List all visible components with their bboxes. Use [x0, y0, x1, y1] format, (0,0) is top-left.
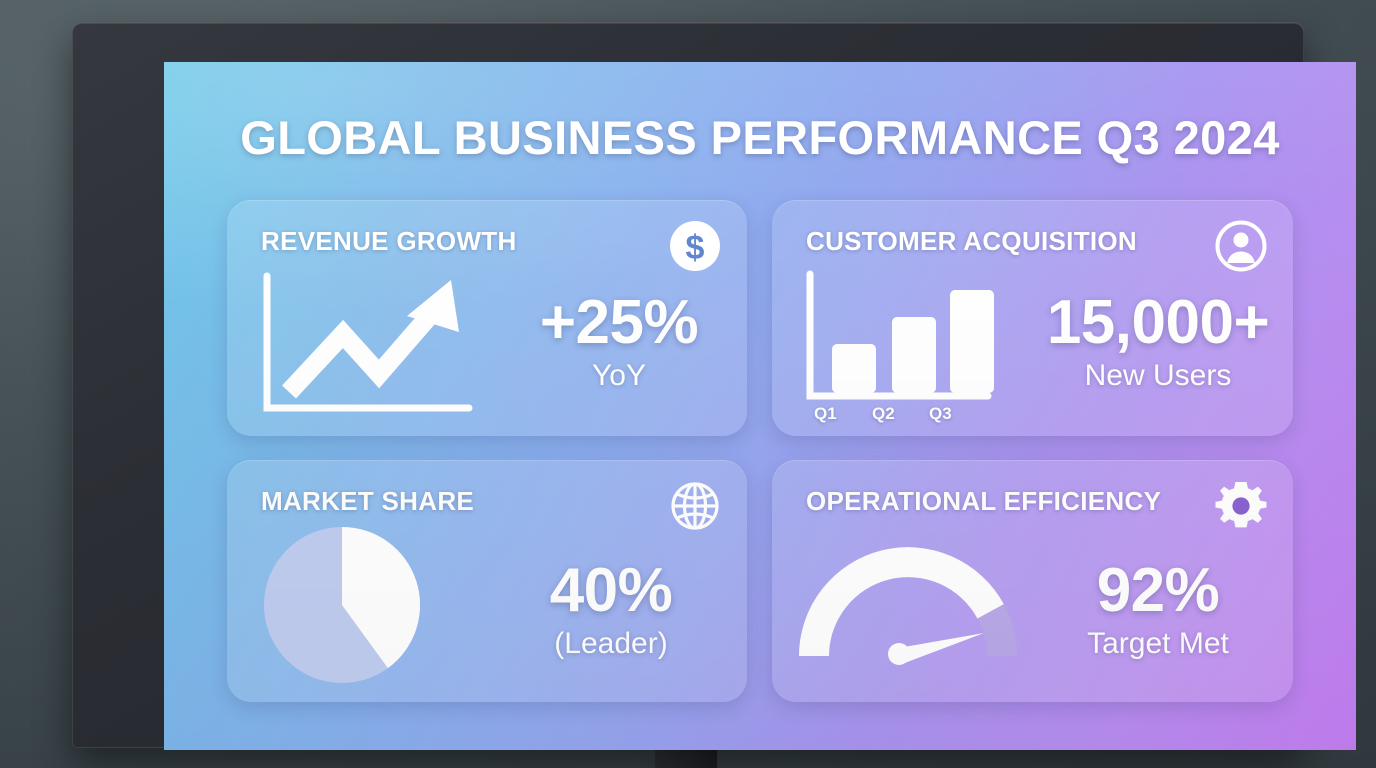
pie-chart: [257, 520, 427, 690]
metric-label: Target Met: [1040, 628, 1276, 660]
card-title: CUSTOMER ACQUISITION: [806, 226, 1137, 257]
metric-label: New Users: [1040, 360, 1276, 392]
user-circle-icon: [1213, 218, 1269, 274]
bar-chart: [800, 270, 996, 420]
bar-label-q2: Q2: [872, 404, 895, 424]
metric-customer-acquisition: 15,000+ New Users: [1040, 292, 1276, 392]
metric-label: (Leader): [499, 628, 723, 660]
card-operational-efficiency[interactable]: OPERATIONAL EFFICIENCY 92% Target Met: [772, 460, 1293, 702]
card-market-share[interactable]: MARKET SHARE 40%: [227, 460, 747, 702]
monitor-frame: GLOBAL BUSINESS PERFORMANCE Q3 2024 REVE…: [72, 22, 1304, 748]
card-revenue-growth[interactable]: REVENUE GROWTH $ +25% YoY: [227, 200, 747, 436]
metric-value: 40%: [499, 560, 723, 622]
card-title: MARKET SHARE: [261, 486, 474, 517]
monitor-screen: GLOBAL BUSINESS PERFORMANCE Q3 2024 REVE…: [164, 62, 1356, 750]
metric-market-share: 40% (Leader): [499, 560, 723, 660]
metric-value: 92%: [1040, 560, 1276, 622]
card-customer-acquisition[interactable]: CUSTOMER ACQUISITION Q1 Q2 Q3 15,000+: [772, 200, 1293, 436]
metric-value: 15,000+: [1040, 292, 1276, 354]
dollar-circle-icon: $: [667, 218, 723, 274]
metric-revenue-growth: +25% YoY: [513, 292, 725, 392]
line-chart-up: [255, 270, 481, 420]
metric-label: YoY: [513, 360, 725, 392]
gear-icon: [1213, 478, 1269, 534]
metric-value: +25%: [513, 292, 725, 354]
gauge-chart: [798, 540, 1018, 666]
bar-label-q1: Q1: [814, 404, 837, 424]
dashboard: GLOBAL BUSINESS PERFORMANCE Q3 2024 REVE…: [164, 62, 1356, 750]
card-title: REVENUE GROWTH: [261, 226, 517, 257]
metric-operational-efficiency: 92% Target Met: [1040, 560, 1276, 660]
card-title: OPERATIONAL EFFICIENCY: [806, 486, 1161, 517]
bar-label-q3: Q3: [929, 404, 952, 424]
svg-text:$: $: [686, 229, 705, 267]
globe-icon: [667, 478, 723, 534]
page-title: GLOBAL BUSINESS PERFORMANCE Q3 2024: [164, 110, 1356, 165]
